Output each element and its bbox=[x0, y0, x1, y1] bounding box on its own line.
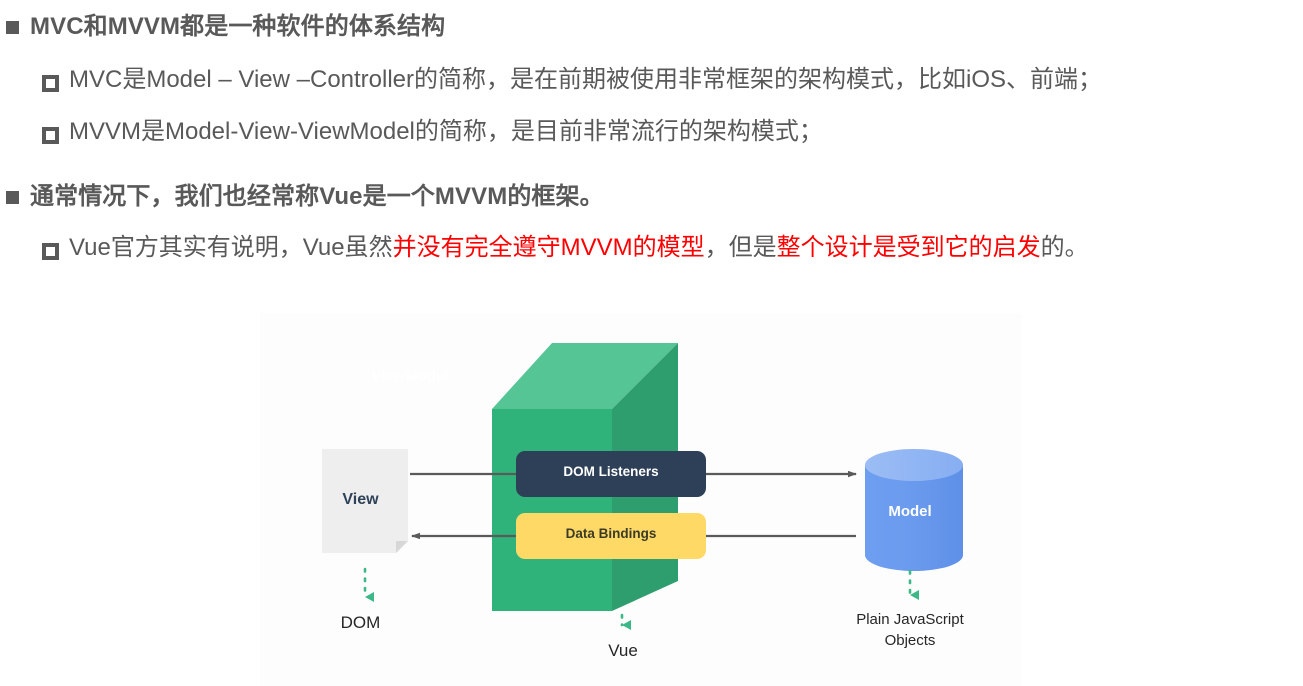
bullet-level1-mvc-mvvm: MVC和MVVM都是一种软件的体系结构 bbox=[6, 10, 445, 44]
bullet-level1-vue-mvvm: 通常情况下，我们也经常称Vue是一个MVVM的框架。 bbox=[6, 180, 604, 214]
plain-js-line-2: Objects bbox=[830, 630, 990, 651]
view-label: View bbox=[313, 491, 408, 509]
hollow-square-bullet-icon bbox=[42, 75, 59, 92]
dom-annotation: DOM bbox=[313, 613, 408, 633]
mvvm-diagram-canvas: ViewModel View DOM Listeners Data Bindin… bbox=[260, 313, 1022, 686]
bullet-text: MVVM是Model-View-ViewModel的简称，是目前非常流行的架构模… bbox=[69, 116, 823, 148]
plain-js-line-1: Plain JavaScript bbox=[830, 609, 990, 630]
mvvm-diagram: ViewModel View DOM Listeners Data Bindin… bbox=[260, 313, 1022, 686]
bullet-text: MVC和MVVM都是一种软件的体系结构 bbox=[30, 10, 445, 44]
bullet-text-rich: Vue官方其实有说明，Vue虽然并没有完全遵守MVVM的模型，但是整个设计是受到… bbox=[69, 232, 1089, 264]
bullet-text-segment-2: ，但是 bbox=[705, 234, 777, 261]
hollow-square-bullet-icon bbox=[42, 243, 59, 260]
cube-front-face bbox=[492, 409, 612, 611]
filled-square-bullet-icon bbox=[6, 191, 19, 204]
bullet-level2-mvc-definition: MVC是Model – View –Controller的简称，是在前期被使用非… bbox=[42, 64, 1102, 96]
filled-square-bullet-icon bbox=[6, 21, 19, 34]
bullet-text: 通常情况下，我们也经常称Vue是一个MVVM的框架。 bbox=[30, 180, 604, 214]
bullet-level2-mvvm-definition: MVVM是Model-View-ViewModel的简称，是目前非常流行的架构模… bbox=[42, 116, 823, 148]
bullet-text: MVC是Model – View –Controller的简称，是在前期被使用非… bbox=[69, 64, 1102, 96]
data-bindings-label: Data Bindings bbox=[516, 526, 706, 541]
bullet-text-segment-3: 整个设计是受到它的启发 bbox=[777, 234, 1041, 261]
bullet-level2-vue-official-note: Vue官方其实有说明，Vue虽然并没有完全遵守MVVM的模型，但是整个设计是受到… bbox=[42, 232, 1089, 264]
model-label: Model bbox=[855, 503, 965, 520]
bullet-text-segment-0: Vue官方其实有说明，Vue虽然 bbox=[69, 234, 393, 261]
hollow-square-bullet-icon bbox=[42, 127, 59, 144]
dom-listeners-label: DOM Listeners bbox=[516, 464, 706, 479]
viewmodel-label: ViewModel bbox=[260, 368, 560, 385]
bullet-text-segment-4: 的。 bbox=[1041, 234, 1089, 261]
vue-annotation: Vue bbox=[573, 641, 673, 661]
bullet-text-segment-1: 并没有完全遵守MVVM的模型 bbox=[393, 234, 705, 261]
plain-javascript-objects-annotation: Plain JavaScript Objects bbox=[830, 609, 990, 651]
